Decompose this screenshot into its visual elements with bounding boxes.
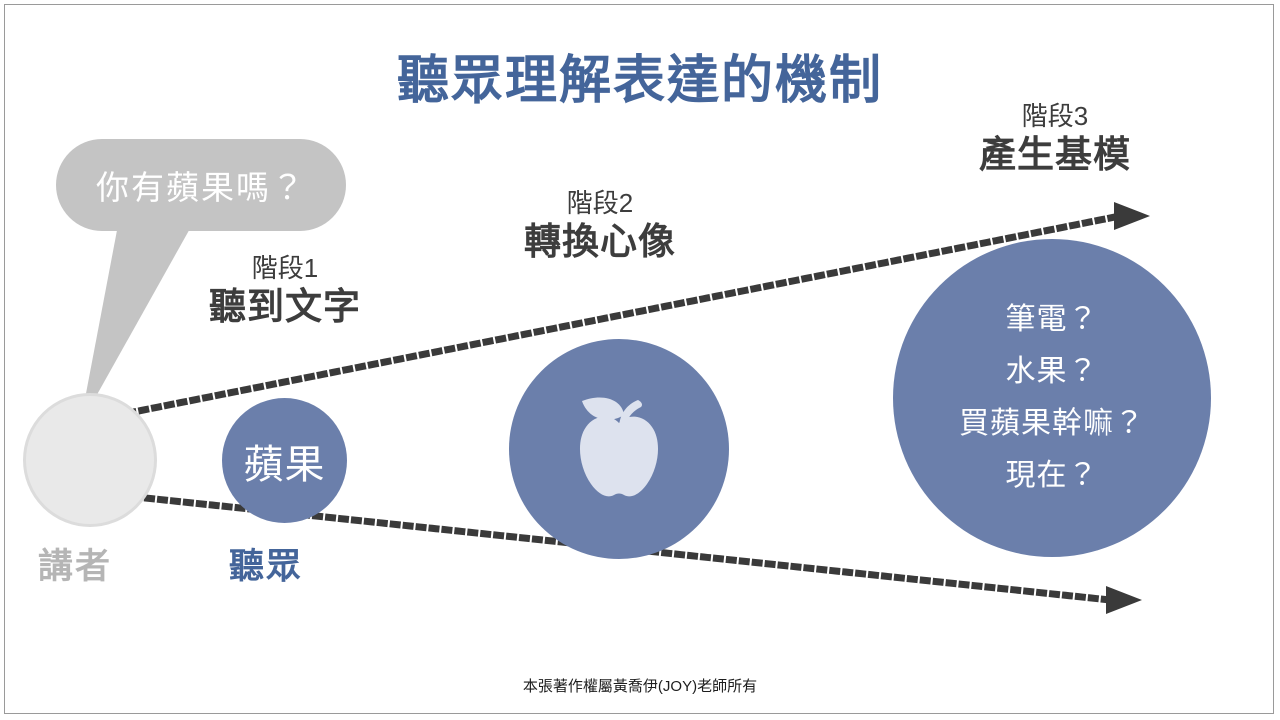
stage3-schema-node: 筆電？ 水果？ 買蘋果幹嘛？ 現在？ [893, 239, 1211, 557]
stage-3-name: 產生基模 [895, 133, 1215, 177]
speech-bubble: 你有蘋果嗎？ [56, 139, 346, 231]
stage-3-kicker: 階段3 [895, 100, 1215, 133]
stage-1-kicker: 階段1 [140, 252, 430, 285]
schema-line: 現在？ [959, 450, 1145, 502]
schema-line: 水果？ [959, 346, 1145, 398]
arrowhead-upper [1114, 202, 1150, 230]
stage-label-1: 階段1 聽到文字 [140, 252, 430, 329]
stage-label-3: 階段3 產生基模 [895, 100, 1215, 177]
schema-line: 買蘋果幹嘛？ [959, 398, 1145, 450]
role-label-speaker: 講者 [38, 538, 112, 589]
slide-canvas: 聽眾理解表達的機制 你有蘋果嗎？ 蘋果 筆電？ 水果？ [0, 0, 1280, 720]
stage-2-kicker: 階段2 [455, 187, 745, 220]
stage-1-name: 聽到文字 [140, 285, 430, 329]
speech-bubble-text: 你有蘋果嗎？ [96, 161, 306, 209]
stage2-image-node [509, 339, 729, 559]
role-label-audience: 聽眾 [229, 538, 303, 589]
arrowhead-lower [1106, 586, 1142, 614]
stage1-word-text: 蘋果 [244, 432, 326, 490]
schema-line: 筆電？ [959, 294, 1145, 346]
schema-question-list: 筆電？ 水果？ 買蘋果幹嘛？ 現在？ [959, 294, 1145, 502]
speaker-node [23, 393, 157, 527]
apple-icon [564, 387, 674, 512]
stage1-word-node: 蘋果 [222, 398, 347, 523]
stage-2-name: 轉換心像 [455, 220, 745, 264]
copyright-footer: 本張著作權屬黃喬伊(JOY)老師所有 [0, 675, 1280, 696]
stage-label-2: 階段2 轉換心像 [455, 187, 745, 264]
